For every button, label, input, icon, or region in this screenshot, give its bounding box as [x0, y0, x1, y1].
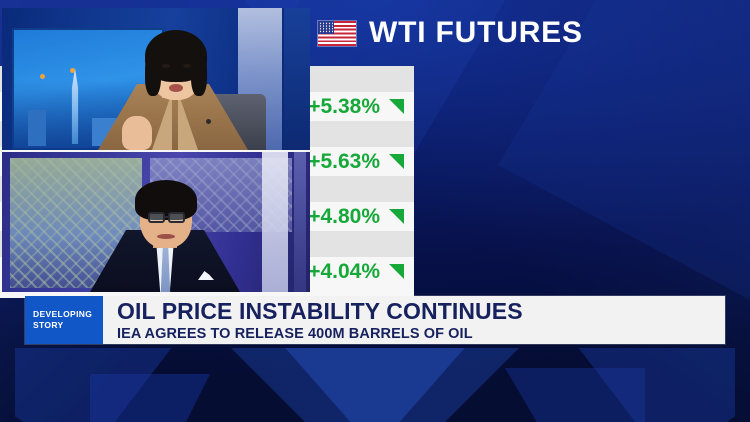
anchor-hand: [122, 116, 152, 150]
background-chevron-pattern: [0, 348, 750, 422]
anchor-video-bottom[interactable]: [2, 152, 310, 292]
developing-story-badge: DEVELOPING STORY: [25, 296, 103, 344]
badge-line-2: STORY: [33, 321, 103, 331]
up-triangle-icon: [389, 209, 404, 224]
quote-panel-title: WTI FUTURES: [369, 16, 583, 50]
subhead-text: IEA AGREES TO RELEASE 400M BARRELS OF OI…: [117, 326, 725, 343]
percent-value: +4.04%: [308, 260, 380, 284]
anchor-eye-right: [183, 64, 191, 68]
percent-change: +4.80%: [308, 205, 404, 229]
percent-change: +5.38%: [308, 95, 404, 119]
us-flag-icon: [318, 21, 356, 46]
anchor2-hair: [135, 180, 197, 220]
anchor-video-top[interactable]: [2, 8, 310, 150]
headline-text: OIL PRICE INSTABILITY CONTINUES: [117, 299, 725, 324]
up-triangle-icon: [389, 264, 404, 279]
anchor-eye-left: [162, 64, 170, 68]
studio-light-strip: [262, 152, 288, 292]
eyeglasses-bridge: [165, 216, 169, 218]
headline-block: OIL PRICE INSTABILITY CONTINUES IEA AGRE…: [103, 296, 725, 344]
percent-value: +5.38%: [308, 95, 380, 119]
lower-third-banner: DEVELOPING STORY OIL PRICE INSTABILITY C…: [25, 296, 725, 344]
up-triangle-icon: [389, 154, 404, 169]
anchor2-mouth: [157, 234, 175, 239]
up-triangle-icon: [389, 99, 404, 114]
lapel-microphone-icon: [206, 119, 211, 124]
anchor-hair-left: [145, 52, 161, 96]
percent-value: +4.80%: [308, 205, 380, 229]
anchor-mouth: [169, 84, 183, 92]
badge-line-1: DEVELOPING: [33, 310, 103, 320]
eyeglasses-right-lens: [168, 212, 185, 223]
studio-wall-edge: [294, 152, 306, 292]
eyeglasses-left-lens: [148, 212, 165, 223]
quote-panel-header: WTI FUTURES: [312, 0, 726, 66]
percent-value: +5.63%: [308, 150, 380, 174]
anchor-hair-right: [191, 52, 207, 96]
studio-wall-right: [284, 8, 310, 150]
percent-change: +4.04%: [308, 260, 404, 284]
percent-change: +5.63%: [308, 150, 404, 174]
